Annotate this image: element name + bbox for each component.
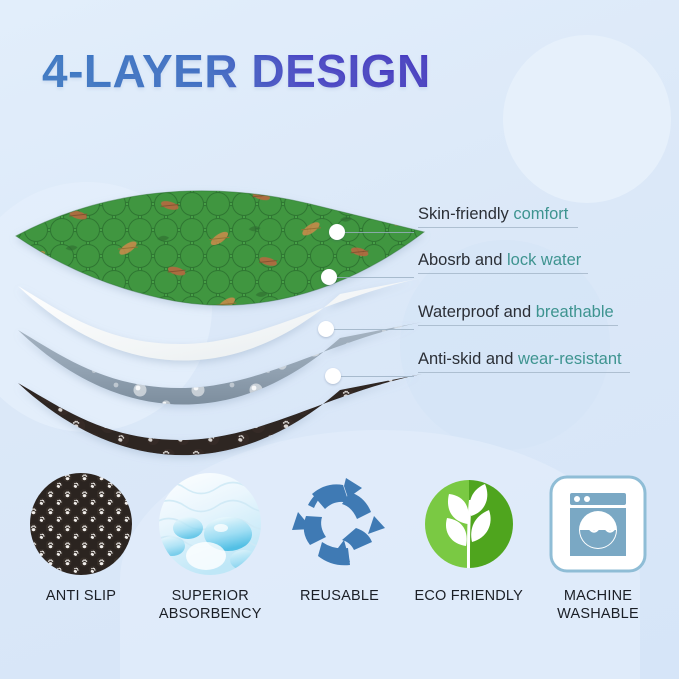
callout-3-accent: breathable bbox=[536, 303, 614, 321]
plant-leaf-circle-icon bbox=[417, 472, 521, 576]
feature-machine-washable: MACHINE WASHABLE bbox=[535, 472, 661, 623]
feature-label-machine-washable: MACHINE WASHABLE bbox=[557, 588, 639, 623]
callout-anti-skid-wear-resistant: Anti-skid and wear-resistant bbox=[418, 350, 630, 373]
infographic-poster: 4-LAYER DESIGN bbox=[0, 0, 679, 679]
layer-shape-top-fabric bbox=[16, 191, 424, 305]
feature-eco-friendly: ECO FRIENDLY bbox=[406, 472, 532, 623]
callout-skin-friendly: Skin-friendly comfort bbox=[418, 205, 578, 228]
feature-reusable: REUSABLE bbox=[277, 472, 403, 623]
feature-label-eco-friendly: ECO FRIENDLY bbox=[415, 588, 523, 606]
water-droplet-quilt-icon bbox=[158, 472, 262, 576]
layer-stack-illustration bbox=[10, 178, 430, 468]
callout-2-primary: Abosrb and bbox=[418, 251, 507, 269]
callout-3-underline bbox=[418, 325, 618, 326]
callout-1-accent: comfort bbox=[513, 205, 568, 223]
background-circle-top-right bbox=[503, 35, 671, 203]
callout-waterproof-breathable: Waterproof and breathable bbox=[418, 303, 618, 326]
callout-absorb-lock-water: Abosrb and lock water bbox=[418, 251, 588, 274]
feature-label-reusable: REUSABLE bbox=[300, 588, 379, 606]
callout-4-underline bbox=[418, 372, 630, 373]
feature-anti-slip: ANTI SLIP bbox=[18, 472, 144, 623]
callout-2-underline bbox=[418, 273, 588, 274]
callout-2-accent: lock water bbox=[507, 251, 581, 269]
recycle-icon bbox=[288, 472, 392, 576]
callout-1-underline bbox=[418, 227, 578, 228]
callout-3-primary: Waterproof and bbox=[418, 303, 536, 321]
feature-label-superior-absorbency: SUPERIOR ABSORBENCY bbox=[159, 588, 262, 623]
feature-superior-absorbency: SUPERIOR ABSORBENCY bbox=[147, 472, 273, 623]
feature-row: ANTI SLIP bbox=[0, 472, 679, 623]
paw-print-circle-icon bbox=[29, 472, 133, 576]
callout-4-primary: Anti-skid and bbox=[418, 350, 518, 368]
page-title: 4-LAYER DESIGN bbox=[42, 48, 431, 94]
feature-label-anti-slip: ANTI SLIP bbox=[46, 588, 116, 606]
washing-machine-icon bbox=[546, 472, 650, 576]
layer-shape-waterproof bbox=[18, 322, 422, 405]
callout-4-accent: wear-resistant bbox=[518, 350, 622, 368]
callout-1-primary: Skin-friendly bbox=[418, 205, 513, 223]
